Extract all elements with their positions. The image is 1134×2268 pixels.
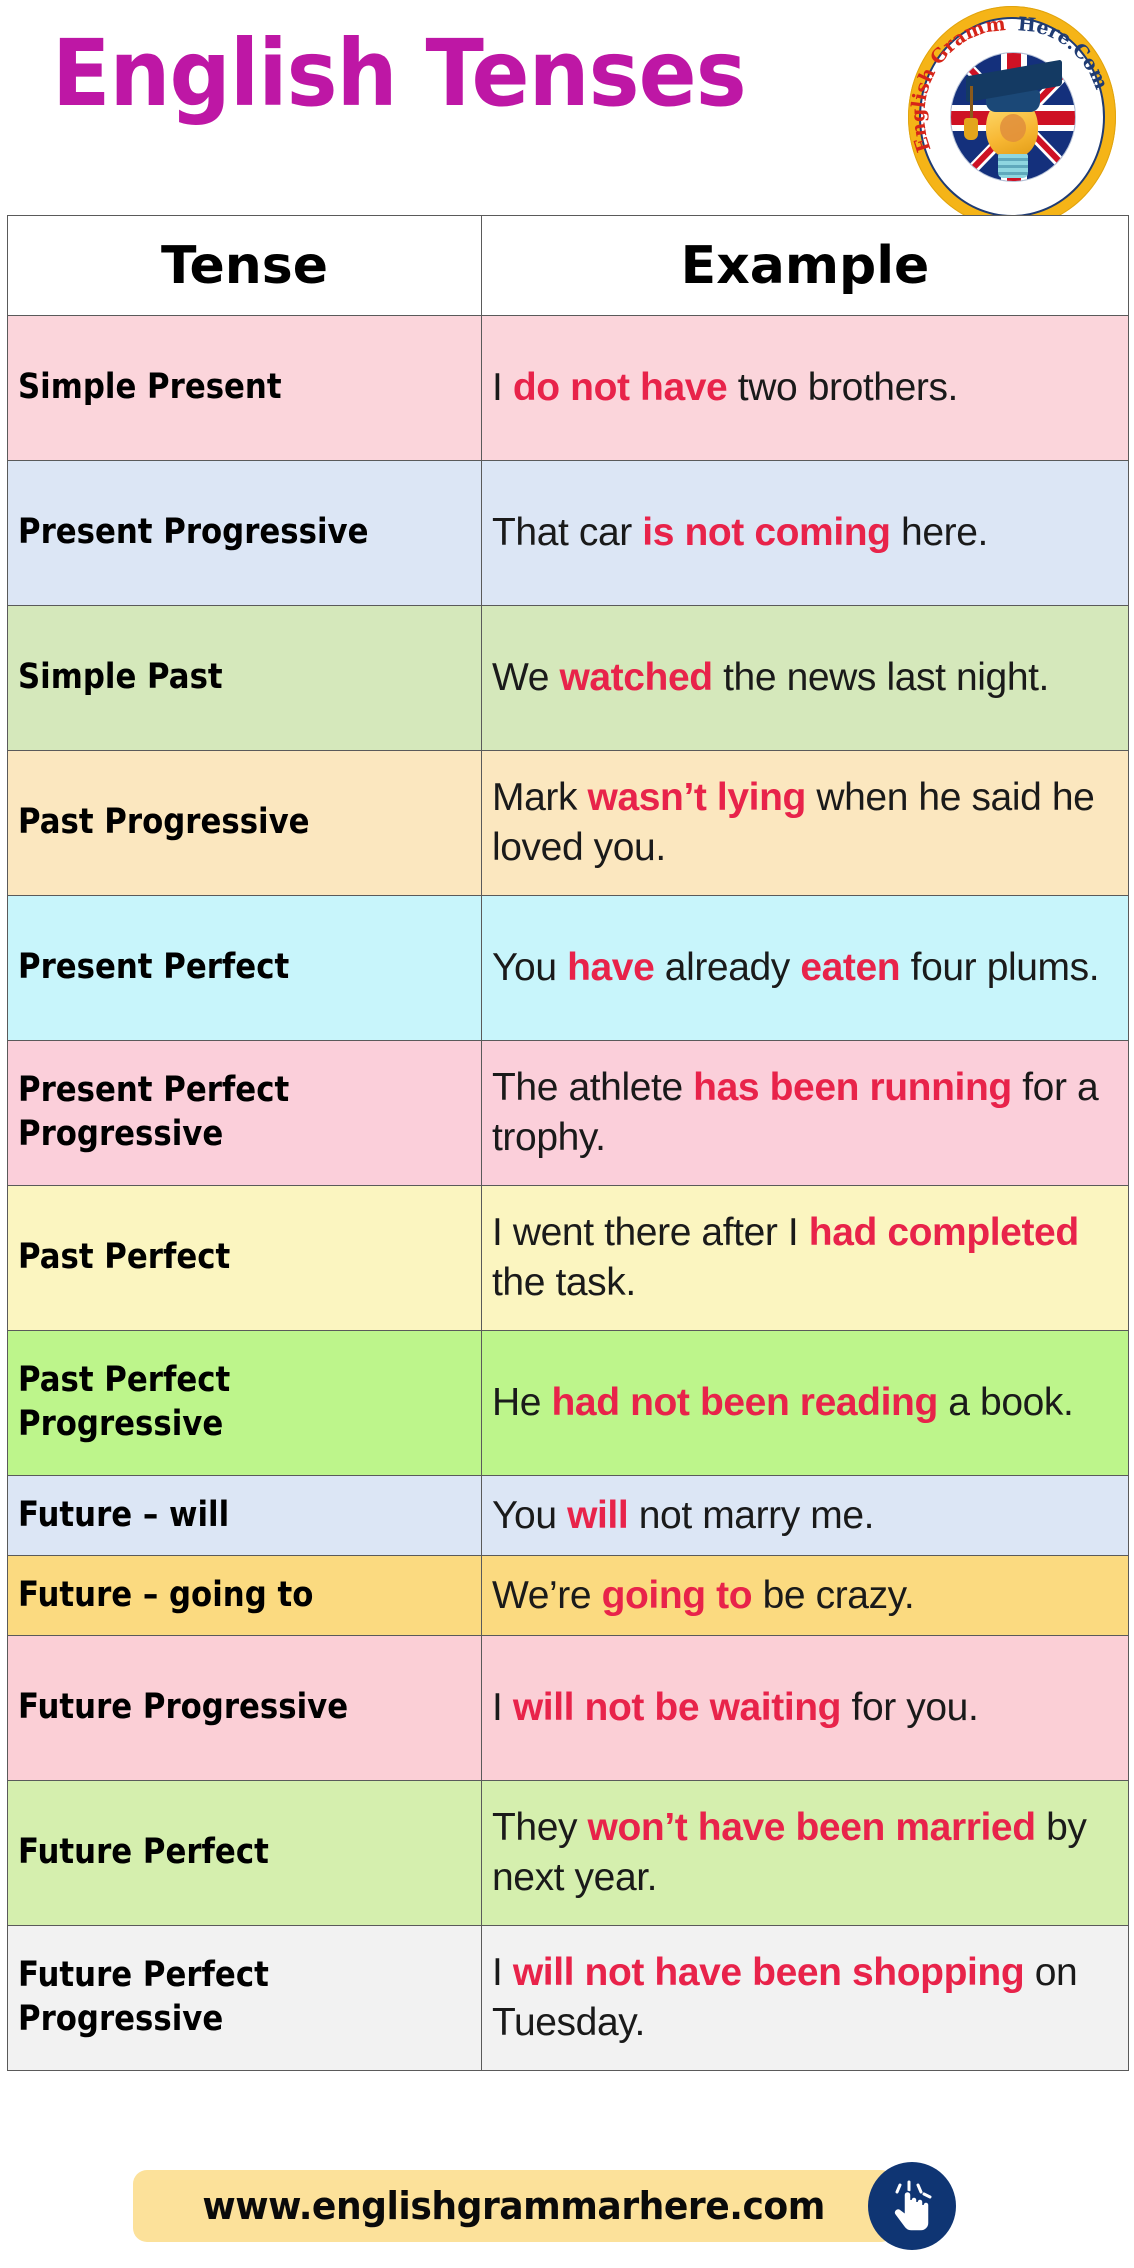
tense-name-cell: Present Perfect Progressive: [8, 1041, 482, 1186]
example-sentence-cell: You have already eaten four plums.: [482, 896, 1129, 1041]
table-row: Present PerfectYou have already eaten fo…: [8, 896, 1129, 1041]
tense-name-label: Past Perfect: [18, 1236, 230, 1280]
tense-name-cell: Present Progressive: [8, 461, 482, 606]
example-text: Mark: [492, 776, 588, 819]
example-text: I: [492, 1686, 513, 1729]
example-text: We’re: [492, 1574, 602, 1617]
example-sentence-cell: I will not have been shopping on Tuesday…: [482, 1926, 1129, 2071]
example-text: here.: [891, 511, 988, 554]
example-text: We: [492, 656, 559, 699]
example-highlight: will not be waiting: [513, 1686, 841, 1729]
click-hand-icon[interactable]: [868, 2162, 956, 2250]
example-sentence-cell: Mark wasn’t lying when he said he loved …: [482, 751, 1129, 896]
tense-name-cell: Simple Past: [8, 606, 482, 751]
example-sentence-cell: That car is not coming here.: [482, 461, 1129, 606]
example-text: The athlete: [492, 1066, 693, 1109]
tense-name-label: Past Perfect Progressive: [18, 1359, 417, 1447]
example-sentence-cell: You will not marry me.: [482, 1476, 1129, 1556]
example-sentence-cell: They won’t have been married by next yea…: [482, 1781, 1129, 1926]
brain-icon: [1000, 114, 1026, 142]
site-logo-badge[interactable]: English Grammar Here.Com: [908, 6, 1116, 228]
example-text: two brothers.: [727, 366, 958, 409]
tense-name-cell: Simple Present: [8, 316, 482, 461]
table-row: Future Perfect ProgressiveI will not hav…: [8, 1926, 1129, 2071]
tense-name-cell: Present Perfect: [8, 896, 482, 1041]
tense-name-label: Future Progressive: [18, 1686, 348, 1730]
table-row: Future PerfectThey won’t have been marri…: [8, 1781, 1129, 1926]
tense-name-cell: Past Perfect Progressive: [8, 1331, 482, 1476]
example-text: That car: [492, 511, 642, 554]
example-highlight: will not have been shopping: [513, 1951, 1024, 1994]
example-sentence-cell: We’re going to be crazy.: [482, 1556, 1129, 1636]
table-row: Simple PresentI do not have two brothers…: [8, 316, 1129, 461]
example-highlight: has been running: [693, 1066, 1012, 1109]
table-row: Present Perfect ProgressiveThe athlete h…: [8, 1041, 1129, 1186]
tense-name-label: Present Perfect Progressive: [18, 1069, 417, 1157]
tense-name-label: Simple Present: [18, 366, 282, 410]
example-highlight: do not have: [513, 366, 727, 409]
lightbulb-base-icon: [998, 154, 1028, 178]
example-highlight: had not been reading: [552, 1381, 938, 1424]
example-highlight: won’t have been married: [588, 1806, 1036, 1849]
table-row: Future – going toWe’re going to be crazy…: [8, 1556, 1129, 1636]
example-highlight: is not coming: [642, 511, 890, 554]
example-highlight: watched: [559, 656, 712, 699]
example-highlight: had completed: [809, 1211, 1079, 1254]
tense-name-label: Future – will: [18, 1494, 229, 1538]
tense-name-cell: Past Perfect: [8, 1186, 482, 1331]
table-row: Future – willYou will not marry me.: [8, 1476, 1129, 1556]
table-row: Past PerfectI went there after I had com…: [8, 1186, 1129, 1331]
footer: www.englishgrammarhere.com: [0, 2156, 1134, 2268]
example-highlight: going to: [602, 1574, 753, 1617]
table-header-row: Tense Example: [8, 216, 1129, 316]
example-text: a book.: [938, 1381, 1074, 1424]
example-text: I: [492, 1951, 513, 1994]
example-text: not marry me.: [628, 1494, 874, 1537]
table-row: Past Perfect ProgressiveHe had not been …: [8, 1331, 1129, 1476]
example-highlight: wasn’t lying: [588, 776, 806, 819]
example-highlight: will: [567, 1494, 628, 1537]
table-row: Present ProgressiveThat car is not comin…: [8, 461, 1129, 606]
tense-name-label: Simple Past: [18, 656, 223, 700]
example-sentence-cell: He had not been reading a book.: [482, 1331, 1129, 1476]
tenses-table: Tense Example Simple PresentI do not hav…: [7, 215, 1129, 2071]
example-text: for you.: [841, 1686, 978, 1729]
example-text: I: [492, 366, 513, 409]
tense-name-cell: Past Progressive: [8, 751, 482, 896]
tense-name-label: Present Perfect: [18, 946, 289, 990]
tense-name-label: Future Perfect: [18, 1831, 269, 1875]
tense-name-cell: Future – will: [8, 1476, 482, 1556]
tense-name-cell: Future – going to: [8, 1556, 482, 1636]
example-sentence-cell: I do not have two brothers.: [482, 316, 1129, 461]
example-sentence-cell: I went there after I had completed the t…: [482, 1186, 1129, 1331]
example-text: They: [492, 1806, 588, 1849]
column-header-example: Example: [482, 216, 1129, 316]
tassel-knot-icon: [964, 118, 978, 140]
table-body: Simple PresentI do not have two brothers…: [8, 316, 1129, 2071]
tense-name-label: Future – going to: [18, 1574, 313, 1618]
tense-name-cell: Future Perfect Progressive: [8, 1926, 482, 2071]
tense-name-cell: Future Progressive: [8, 1636, 482, 1781]
example-highlight: eaten: [800, 946, 900, 989]
tassel-cord-icon: [970, 86, 973, 120]
example-text: already: [654, 946, 800, 989]
tense-name-label: Future Perfect Progressive: [18, 1954, 417, 2042]
infographic-page: English Tenses: [0, 0, 1134, 2268]
tense-name-cell: Future Perfect: [8, 1781, 482, 1926]
table-row: Simple PastWe watched the news last nigh…: [8, 606, 1129, 751]
tense-name-label: Present Progressive: [18, 511, 368, 555]
example-text: You: [492, 946, 567, 989]
page-title: English Tenses: [52, 28, 746, 120]
example-highlight: have: [567, 946, 654, 989]
table-row: Future ProgressiveI will not be waiting …: [8, 1636, 1129, 1781]
example-sentence-cell: We watched the news last night.: [482, 606, 1129, 751]
example-text: the news last night.: [713, 656, 1049, 699]
example-text: You: [492, 1494, 567, 1537]
header: English Tenses: [0, 0, 1134, 215]
example-sentence-cell: The athlete has been running for a troph…: [482, 1041, 1129, 1186]
example-sentence-cell: I will not be waiting for you.: [482, 1636, 1129, 1781]
example-text: the task.: [492, 1261, 636, 1304]
example-text: I went there after I: [492, 1211, 809, 1254]
example-text: four plums.: [900, 946, 1099, 989]
footer-url-label[interactable]: www.englishgrammarhere.com: [133, 2170, 895, 2242]
tense-name-label: Past Progressive: [18, 801, 310, 845]
table-row: Past ProgressiveMark wasn’t lying when h…: [8, 751, 1129, 896]
example-text: be crazy.: [752, 1574, 914, 1617]
footer-url-text: www.englishgrammarhere.com: [203, 2184, 825, 2228]
example-text: He: [492, 1381, 552, 1424]
column-header-tense: Tense: [8, 216, 482, 316]
